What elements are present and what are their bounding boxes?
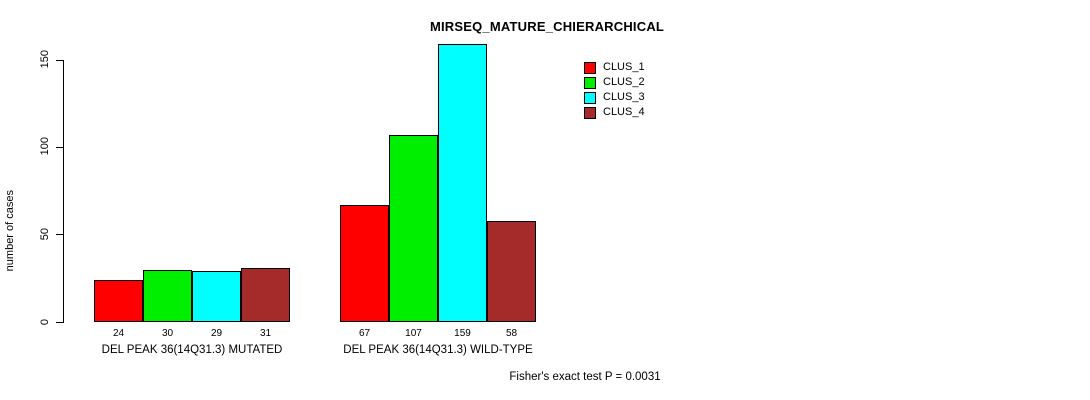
- legend: CLUS_1CLUS_2CLUS_3CLUS_4: [584, 60, 645, 120]
- statistical-annotation: Fisher's exact test P = 0.0031: [0, 371, 1090, 383]
- bar-clus_2: [389, 135, 438, 322]
- legend-item: CLUS_3: [584, 90, 645, 105]
- group-axis-label: DEL PEAK 36(14Q31.3) WILD-TYPE: [280, 344, 596, 356]
- bar-value-label: 67: [340, 328, 389, 339]
- legend-item-label: CLUS_2: [603, 77, 645, 88]
- bar-clus_3: [192, 271, 241, 322]
- legend-color-swatch-icon: [584, 107, 596, 119]
- legend-item: CLUS_2: [584, 75, 645, 90]
- bar-value-label: 29: [192, 328, 241, 339]
- legend-item-label: CLUS_1: [603, 62, 645, 73]
- page-title: MIRSEQ_MATURE_CHIERARCHICAL: [0, 19, 1090, 34]
- bar-clus_4: [241, 268, 290, 322]
- bar-clus_4: [487, 221, 536, 322]
- bar-clus_3: [438, 44, 487, 322]
- legend-item-label: CLUS_4: [603, 107, 645, 118]
- y-axis-tick-100: [56, 147, 63, 148]
- y-axis-line: [63, 60, 64, 323]
- y-axis-tick-150: [56, 60, 63, 61]
- bar-clus_2: [143, 270, 192, 322]
- y-axis-tick-0: [56, 322, 63, 323]
- legend-item: CLUS_4: [584, 105, 645, 120]
- y-axis-tick-label: 50: [40, 228, 51, 240]
- legend-color-swatch-icon: [584, 62, 596, 74]
- bar-value-label: 30: [143, 328, 192, 339]
- bar-value-label: 31: [241, 328, 290, 339]
- legend-color-swatch-icon: [584, 92, 596, 104]
- footer-note-text: Fisher's exact test P = 0.0031: [509, 371, 660, 383]
- bar-value-label: 159: [438, 328, 487, 339]
- bar-clus_1: [340, 205, 389, 322]
- chart-title-text: MIRSEQ_MATURE_CHIERARCHICAL: [430, 19, 664, 34]
- y-axis-title: number of cases: [4, 190, 16, 271]
- y-axis-tick-label: 150: [40, 50, 51, 68]
- bar-value-label: 24: [94, 328, 143, 339]
- legend-color-swatch-icon: [584, 77, 596, 89]
- legend-item: CLUS_1: [584, 60, 645, 75]
- bar-clus_1: [94, 280, 143, 322]
- y-axis-tick-50: [56, 234, 63, 235]
- bar-value-label: 58: [487, 328, 536, 339]
- bar-value-label: 107: [389, 328, 438, 339]
- legend-item-label: CLUS_3: [603, 92, 645, 103]
- bar-chart-plot: MIRSEQ_MATURE_CHIERARCHICAL number of ca…: [0, 0, 1090, 400]
- y-axis-tick-label: 100: [40, 137, 51, 155]
- y-axis-tick-label: 0: [40, 319, 51, 325]
